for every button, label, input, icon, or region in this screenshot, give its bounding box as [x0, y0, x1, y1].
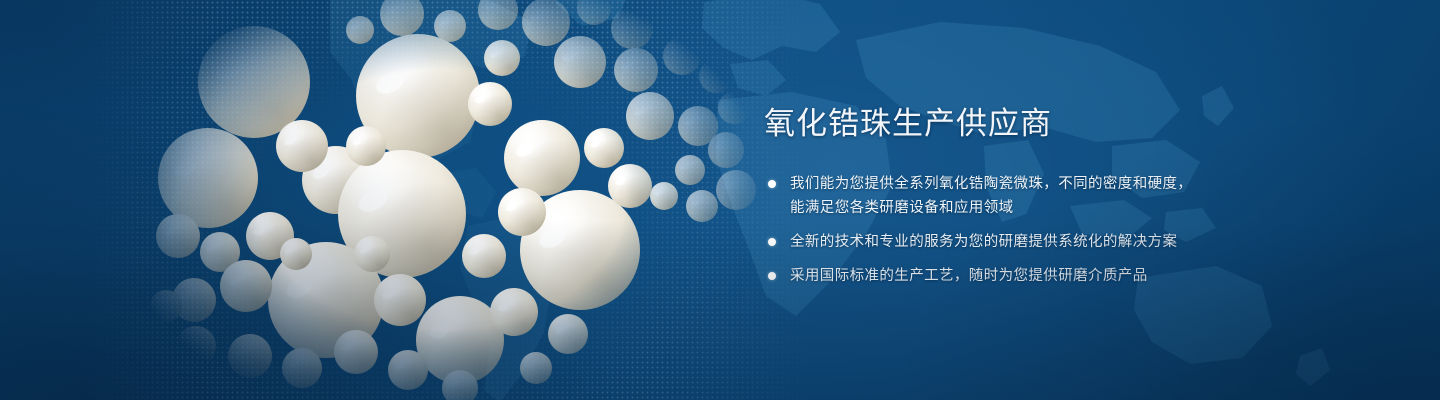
background-vignette — [0, 0, 1440, 400]
hero-banner: 氧化锆珠生产供应商 我们能为您提供全系列氧化锆陶瓷微珠，不同的密度和硬度， 能满… — [0, 0, 1440, 400]
